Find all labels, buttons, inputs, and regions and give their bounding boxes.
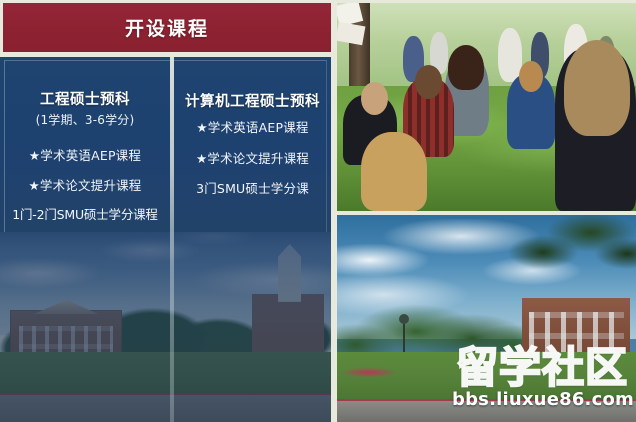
course-item: ★学术论文提升课程: [174, 148, 331, 167]
panel-gap-horizontal: [337, 211, 636, 215]
paper-sheet: [337, 22, 365, 45]
course-title-computer-engineering: 计算机工程硕士预科: [174, 90, 331, 111]
left-column: 开设课程 工程硕士预科: [0, 0, 331, 422]
course-item: ★学术论文提升课程: [0, 175, 170, 194]
course-subtitle-engineering: (1学期、3-6学分): [0, 111, 170, 128]
overhanging-branch-layer: [498, 215, 636, 285]
panel-gap-top: [0, 0, 636, 3]
students-on-lawn-photo: [337, 3, 636, 211]
column-divider: [170, 57, 174, 422]
campus-street-photo: [337, 215, 636, 422]
poster-canvas: 开设课程 工程硕士预科: [0, 0, 636, 422]
course-item: 3门SMU硕士学分课: [174, 178, 331, 197]
panel-gap-vertical: [331, 0, 336, 422]
course-title-engineering: 工程硕士预科: [0, 88, 170, 109]
campus-buildings-photo: [0, 215, 331, 422]
seated-student-hair: [448, 45, 484, 91]
course-item: ★学术英语AEP课程: [0, 145, 170, 164]
banner-title: 开设课程: [125, 14, 209, 41]
road-layer: [337, 399, 636, 422]
flower-bed-layer: [340, 364, 412, 381]
blue-overlay-wash: [0, 215, 331, 422]
foreground-student-hair: [564, 40, 630, 136]
course-item: 1门-2门SMU硕士学分课程: [0, 204, 171, 223]
course-item: ★学术英语AEP课程: [174, 117, 331, 136]
panel-gap-left: [0, 0, 3, 57]
seated-student-head: [415, 65, 442, 98]
section-banner: 开设课程: [3, 3, 331, 52]
course-panel: 工程硕士预科 (1学期、3-6学分) ★学术英语AEP课程 ★学术论文提升课程 …: [0, 57, 331, 422]
seated-student-head: [361, 82, 388, 115]
foreground-student-blonde: [361, 132, 427, 211]
